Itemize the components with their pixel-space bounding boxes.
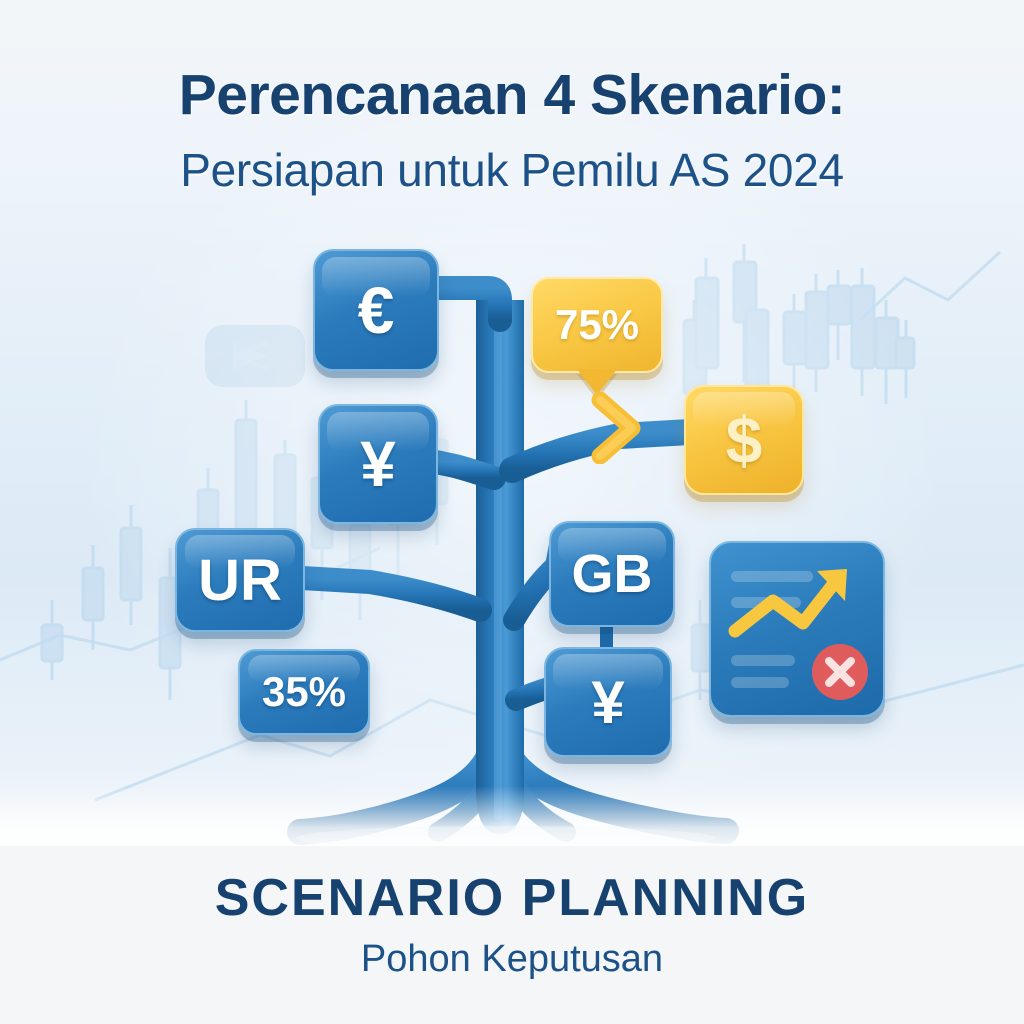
page-subtitle: Persiapan untuk Pemilu AS 2024 — [0, 143, 1024, 197]
footer-headline: SCENARIO PLANNING — [0, 868, 1024, 928]
callout-75-percent[interactable]: 75% — [531, 277, 663, 373]
chevron-right-icon — [588, 392, 650, 464]
node-card-ur[interactable]: UR — [175, 528, 305, 632]
poster: € ¥ UR 35% GB ¥ $ 75% — [0, 0, 1024, 1024]
error-x-circle-icon[interactable] — [809, 641, 871, 703]
trend-report-card[interactable] — [709, 541, 885, 717]
node-card-jpy-alt[interactable]: ¥ — [544, 647, 672, 757]
node-card-eur[interactable]: € — [313, 249, 439, 371]
yen-currency-icon-alt: ¥ — [591, 668, 624, 737]
percent-badge-icon: 35% — [262, 668, 346, 716]
callout-label: 75% — [555, 301, 639, 349]
page-title: Perencanaan 4 Skenario: — [0, 62, 1024, 128]
dollar-currency-icon: $ — [726, 402, 763, 478]
euro-currency-icon: € — [358, 272, 395, 348]
node-card-35-percent[interactable]: 35% — [238, 649, 370, 735]
node-card-gb[interactable]: GB — [549, 521, 675, 627]
node-card-jpy[interactable]: ¥ — [318, 404, 438, 524]
footer-subline: Pohon Keputusan — [0, 938, 1024, 981]
node-card-usd[interactable]: $ — [684, 385, 804, 495]
gb-text-node: GB — [572, 543, 653, 605]
yen-currency-icon: ¥ — [360, 427, 396, 501]
ur-text-node: UR — [198, 547, 282, 614]
